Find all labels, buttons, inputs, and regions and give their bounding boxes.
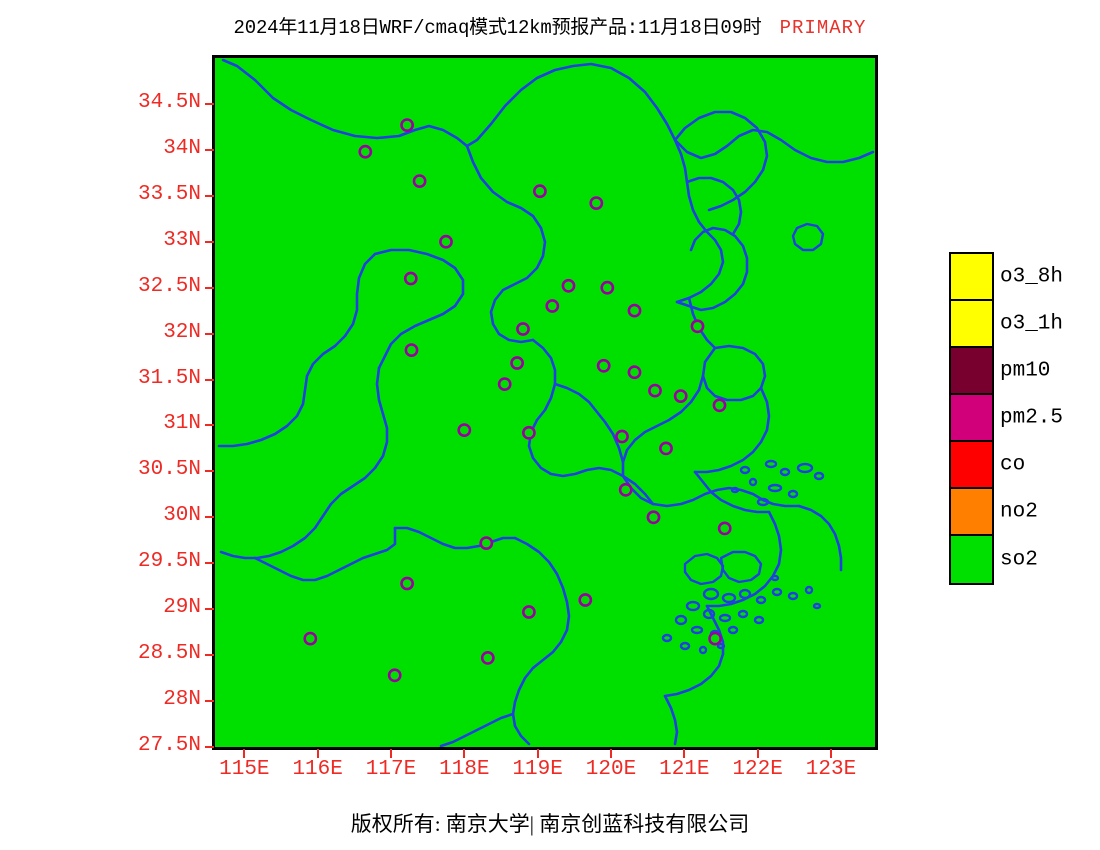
station-marker[interactable] bbox=[499, 379, 510, 390]
station-marker[interactable] bbox=[620, 484, 631, 495]
y-axis-tick-label: 34N bbox=[0, 137, 201, 160]
station-marker[interactable] bbox=[406, 345, 417, 356]
x-axis-tick-label: 116E bbox=[286, 758, 350, 781]
station-marker[interactable] bbox=[563, 280, 574, 291]
map-canvas bbox=[215, 58, 875, 747]
station-marker[interactable] bbox=[719, 523, 730, 534]
map-plot-area[interactable] bbox=[212, 55, 878, 750]
x-axis-tick-label: 117E bbox=[359, 758, 423, 781]
station-marker[interactable] bbox=[360, 146, 371, 157]
station-marker[interactable] bbox=[402, 578, 413, 589]
administrative-boundaries bbox=[219, 60, 873, 746]
y-axis-tick-mark bbox=[205, 654, 214, 656]
y-axis-tick-mark bbox=[205, 746, 214, 748]
x-axis-tick-mark bbox=[757, 749, 759, 758]
legend-label: co bbox=[1000, 453, 1025, 476]
legend-label: pm2.5 bbox=[1000, 406, 1063, 429]
y-axis-tick-label: 31.5N bbox=[0, 367, 201, 390]
y-axis-tick-mark bbox=[205, 562, 214, 564]
pollutant-legend[interactable]: o3_8ho3_1hpm10pm2.5cono2so2 bbox=[949, 252, 994, 585]
y-axis-tick-label: 32.5N bbox=[0, 275, 201, 298]
legend-label: pm10 bbox=[1000, 359, 1050, 382]
y-axis-tick-mark bbox=[205, 424, 214, 426]
y-axis-tick-mark bbox=[205, 241, 214, 243]
station-marker[interactable] bbox=[591, 198, 602, 209]
station-marker[interactable] bbox=[648, 512, 659, 523]
y-axis-tick-label: 29N bbox=[0, 596, 201, 619]
x-axis-tick-label: 123E bbox=[799, 758, 863, 781]
station-marker[interactable] bbox=[482, 652, 493, 663]
y-axis-tick-label: 29.5N bbox=[0, 550, 201, 573]
x-axis-tick-label: 122E bbox=[726, 758, 790, 781]
y-axis-tick-label: 32N bbox=[0, 321, 201, 344]
station-marker[interactable] bbox=[389, 670, 400, 681]
y-axis-tick-mark bbox=[205, 149, 214, 151]
y-axis-tick-label: 33N bbox=[0, 229, 201, 252]
station-marker[interactable] bbox=[602, 282, 613, 293]
station-marker[interactable] bbox=[405, 273, 416, 284]
station-markers bbox=[305, 120, 731, 681]
station-marker[interactable] bbox=[629, 367, 640, 378]
y-axis-tick-label: 27.5N bbox=[0, 734, 201, 757]
station-marker[interactable] bbox=[649, 385, 660, 396]
station-marker[interactable] bbox=[414, 176, 425, 187]
y-axis-tick-label: 31N bbox=[0, 412, 201, 435]
legend-label: o3_1h bbox=[1000, 312, 1063, 335]
station-marker[interactable] bbox=[523, 606, 534, 617]
y-axis-tick-label: 34.5N bbox=[0, 91, 201, 114]
legend-swatch-o3_8h[interactable]: o3_8h bbox=[951, 254, 992, 301]
y-axis-tick-mark bbox=[205, 287, 214, 289]
station-marker[interactable] bbox=[305, 633, 316, 644]
y-axis-tick-mark bbox=[205, 333, 214, 335]
legend-label: no2 bbox=[1000, 500, 1038, 523]
station-marker[interactable] bbox=[714, 400, 725, 411]
station-marker[interactable] bbox=[459, 425, 470, 436]
station-marker[interactable] bbox=[675, 391, 686, 402]
station-marker[interactable] bbox=[547, 300, 558, 311]
y-axis-tick-mark bbox=[205, 700, 214, 702]
y-axis-tick-mark bbox=[205, 470, 214, 472]
station-marker[interactable] bbox=[629, 305, 640, 316]
x-axis-tick-mark bbox=[317, 749, 319, 758]
x-axis-tick-label: 120E bbox=[579, 758, 643, 781]
x-axis-tick-mark bbox=[243, 749, 245, 758]
copyright-footer: 版权所有: 南京大学| 南京创蓝科技有限公司 bbox=[0, 808, 1100, 838]
legend-label: o3_8h bbox=[1000, 265, 1063, 288]
station-marker[interactable] bbox=[580, 594, 591, 605]
x-axis-tick-mark bbox=[390, 749, 392, 758]
station-marker[interactable] bbox=[523, 427, 534, 438]
x-axis-tick-label: 119E bbox=[506, 758, 570, 781]
legend-swatch-so2[interactable]: so2 bbox=[951, 536, 992, 583]
y-axis-tick-mark bbox=[205, 379, 214, 381]
legend-swatch-pm10[interactable]: pm10 bbox=[951, 348, 992, 395]
y-axis-tick-mark bbox=[205, 608, 214, 610]
station-marker[interactable] bbox=[710, 633, 721, 644]
y-axis-tick-label: 28N bbox=[0, 688, 201, 711]
legend-label: so2 bbox=[1000, 548, 1038, 571]
legend-swatch-co[interactable]: co bbox=[951, 442, 992, 489]
page-title: 2024年11月18日WRF/cmaq模式12km预报产品:11月18日09时P… bbox=[0, 12, 1100, 39]
x-axis-tick-label: 121E bbox=[652, 758, 716, 781]
forecast-map-page: 2024年11月18日WRF/cmaq模式12km预报产品:11月18日09时P… bbox=[0, 0, 1100, 850]
station-marker[interactable] bbox=[440, 236, 451, 247]
y-axis-tick-label: 30N bbox=[0, 504, 201, 527]
station-marker[interactable] bbox=[512, 357, 523, 368]
station-marker[interactable] bbox=[660, 443, 671, 454]
y-axis-tick-label: 28.5N bbox=[0, 642, 201, 665]
legend-swatch-no2[interactable]: no2 bbox=[951, 489, 992, 536]
y-axis-tick-mark bbox=[205, 103, 214, 105]
x-axis-tick-mark bbox=[610, 749, 612, 758]
x-axis-tick-mark bbox=[463, 749, 465, 758]
x-axis-tick-mark bbox=[683, 749, 685, 758]
title-main-text: 2024年11月18日WRF/cmaq模式12km预报产品:11月18日09时 bbox=[234, 17, 762, 39]
station-marker[interactable] bbox=[517, 323, 528, 334]
legend-swatch-o3_1h[interactable]: o3_1h bbox=[951, 301, 992, 348]
station-marker[interactable] bbox=[692, 321, 703, 332]
y-axis-tick-label: 30.5N bbox=[0, 458, 201, 481]
y-axis-tick-mark bbox=[205, 516, 214, 518]
x-axis-tick-label: 118E bbox=[432, 758, 496, 781]
x-axis-tick-mark bbox=[830, 749, 832, 758]
x-axis-tick-label: 115E bbox=[212, 758, 276, 781]
y-axis-tick-label: 33.5N bbox=[0, 183, 201, 206]
title-primary-text: PRIMARY bbox=[780, 17, 867, 39]
station-marker[interactable] bbox=[598, 360, 609, 371]
station-marker[interactable] bbox=[534, 186, 545, 197]
legend-swatch-pm2-5[interactable]: pm2.5 bbox=[951, 395, 992, 442]
x-axis-tick-mark bbox=[537, 749, 539, 758]
station-marker[interactable] bbox=[402, 120, 413, 131]
y-axis-tick-mark bbox=[205, 195, 214, 197]
station-marker[interactable] bbox=[616, 431, 627, 442]
station-marker[interactable] bbox=[481, 538, 492, 549]
offshore-islands bbox=[663, 224, 823, 653]
